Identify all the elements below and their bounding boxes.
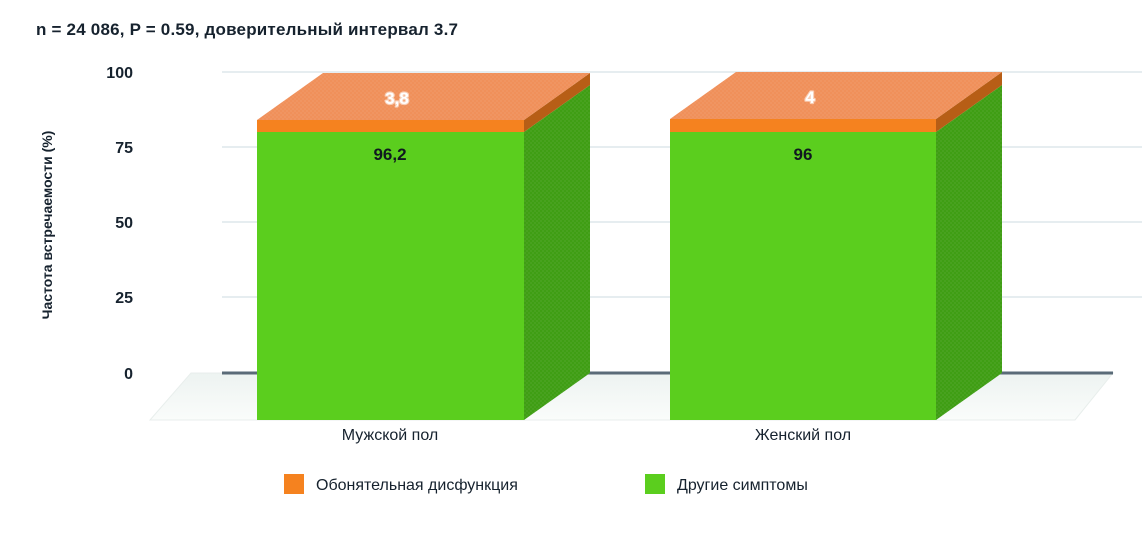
chart-container: n = 24 086, P = 0.59, доверительный инте… [0,0,1142,542]
y-tick-label-25: 25 [115,290,133,307]
legend-label-green: Другие симптомы [677,477,808,494]
chart-legend: Обонятельная дисфункция Другие симптомы [284,474,808,494]
bar-male-green-value: 96,2 [373,145,406,164]
bar-female-green-value: 96 [794,145,813,164]
x-category-label-male: Мужской пол [342,427,438,444]
legend-swatch-green [645,474,665,494]
legend-swatch-orange [284,474,304,494]
y-tick-label-50: 50 [115,215,133,232]
bar-female-orange-value: 4 [805,88,815,107]
y-tick-label-0: 0 [124,366,133,383]
bar-group-female[interactable]: 4 96 [670,72,1002,420]
chart-plot-area: Частота встречаемости (%) 100 75 50 25 0… [0,0,1142,542]
legend-item-olfactory-dysfunction[interactable]: Обонятельная дисфункция [284,474,518,494]
bar-male-orange-value: 3,8 [385,89,409,108]
bar-female-orange-front [670,119,936,132]
legend-label-orange: Обонятельная дисфункция [316,477,518,494]
y-tick-label-75: 75 [115,140,133,157]
y-axis-title: Частота встречаемости (%) [39,131,55,320]
bar-male-green-front [257,132,524,420]
bar-male-orange-front [257,120,524,132]
x-category-label-female: Женский пол [755,427,851,444]
y-tick-label-100: 100 [106,65,133,82]
legend-item-other-symptoms[interactable]: Другие симптомы [645,474,808,494]
bar-group-male[interactable]: 3,8 96,2 [257,73,590,420]
bar-female-green-front [670,132,936,420]
